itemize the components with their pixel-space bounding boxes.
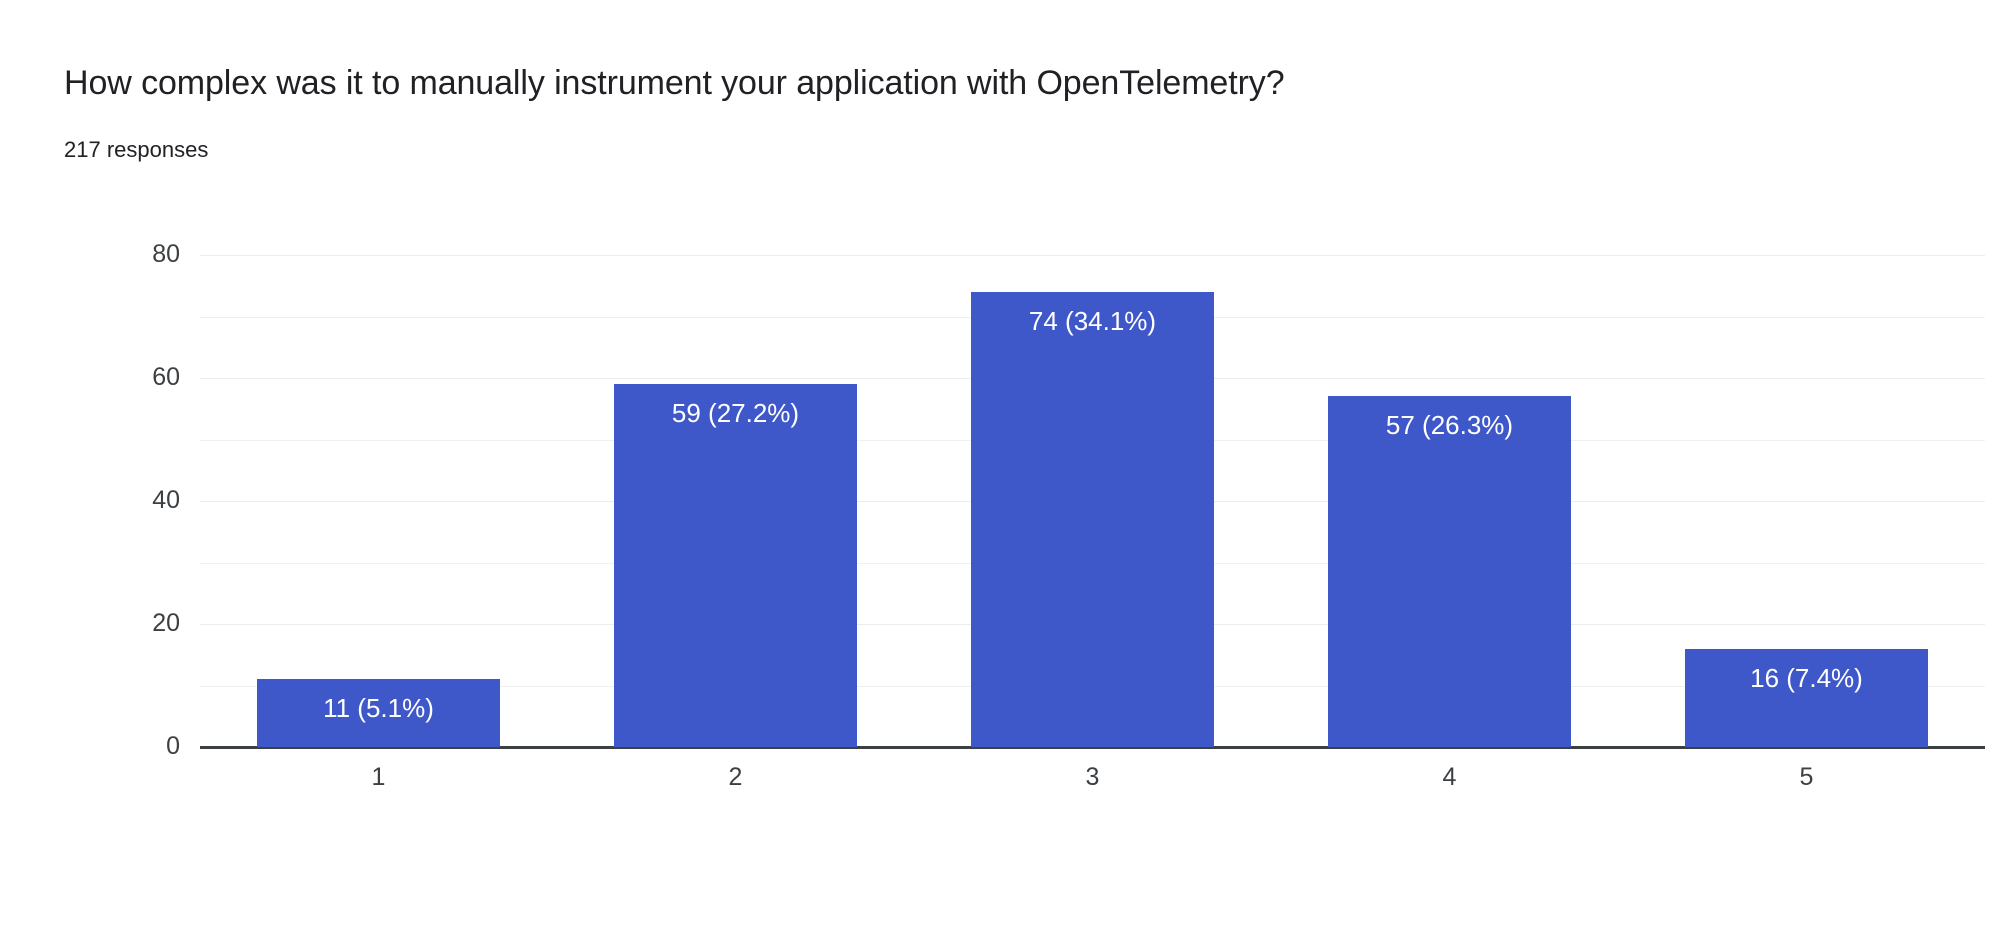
y-axis-tick-label: 60 xyxy=(80,365,180,390)
chart-bar[interactable]: 74 (34.1%) xyxy=(971,292,1214,747)
x-axis-tick-label: 3 xyxy=(914,762,1271,792)
bar-slot: 11 (5.1%) xyxy=(200,255,557,747)
y-axis-tick-label: 40 xyxy=(80,488,180,513)
x-axis: 12345 xyxy=(200,762,1985,802)
chart-bars: 11 (5.1%)59 (27.2%)74 (34.1%)57 (26.3%)1… xyxy=(200,255,1985,747)
x-axis-tick-label: 1 xyxy=(200,762,557,792)
chart-bar[interactable]: 59 (27.2%) xyxy=(614,384,857,747)
bar-slot: 57 (26.3%) xyxy=(1271,255,1628,747)
bar-value-label: 59 (27.2%) xyxy=(614,398,857,428)
chart-bar[interactable]: 16 (7.4%) xyxy=(1685,649,1928,747)
bar-value-label: 16 (7.4%) xyxy=(1685,663,1928,693)
y-axis: 020406080 xyxy=(60,255,180,747)
bar-slot: 59 (27.2%) xyxy=(557,255,914,747)
y-axis-tick-label: 0 xyxy=(80,734,180,759)
bar-slot: 74 (34.1%) xyxy=(914,255,1271,747)
x-axis-tick-label: 4 xyxy=(1271,762,1628,792)
bar-chart: 020406080 11 (5.1%)59 (27.2%)74 (34.1%)5… xyxy=(0,0,1999,951)
bar-value-label: 57 (26.3%) xyxy=(1328,410,1571,440)
chart-bar[interactable]: 57 (26.3%) xyxy=(1328,396,1571,747)
x-axis-tick-label: 5 xyxy=(1628,762,1985,792)
bar-value-label: 74 (34.1%) xyxy=(971,306,1214,336)
bar-value-label: 11 (5.1%) xyxy=(257,693,500,723)
form-response-chart-page: How complex was it to manually instrumen… xyxy=(0,0,1999,951)
chart-bar[interactable]: 11 (5.1%) xyxy=(257,679,500,747)
bar-slot: 16 (7.4%) xyxy=(1628,255,1985,747)
y-axis-tick-label: 80 xyxy=(80,242,180,267)
y-axis-tick-label: 20 xyxy=(80,611,180,636)
x-axis-tick-label: 2 xyxy=(557,762,914,792)
